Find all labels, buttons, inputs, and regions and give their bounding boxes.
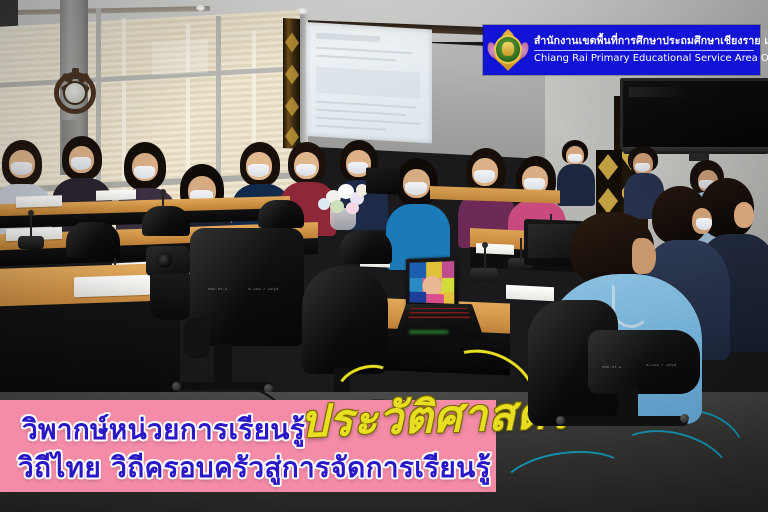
slide-line bbox=[316, 117, 420, 125]
flower-bloom bbox=[318, 198, 330, 210]
screen-tile bbox=[410, 292, 427, 304]
emblem-core bbox=[502, 42, 514, 56]
thai-royal-garuda-emblem-icon bbox=[487, 28, 529, 72]
office-chair bbox=[588, 330, 700, 394]
chair-sheen bbox=[302, 266, 388, 374]
thai-diamond-motif bbox=[598, 188, 618, 214]
decorative-wood-column bbox=[283, 18, 301, 149]
face-mask bbox=[696, 218, 712, 230]
head bbox=[734, 202, 754, 228]
face-mask bbox=[71, 157, 91, 170]
thai-diamond-motif bbox=[285, 32, 299, 53]
slide-line bbox=[316, 109, 406, 116]
microphone-head bbox=[28, 210, 34, 216]
flower-bloom bbox=[346, 202, 359, 214]
office-chair bbox=[142, 206, 190, 236]
chair-base bbox=[214, 344, 232, 386]
office-chair bbox=[66, 222, 120, 258]
face-mask bbox=[568, 154, 582, 163]
dslr-camera bbox=[146, 246, 190, 276]
flower-bloom bbox=[330, 200, 344, 213]
projection-screen bbox=[306, 22, 432, 143]
face-mask bbox=[348, 162, 368, 174]
chair-caster bbox=[172, 382, 181, 391]
ships-wheel-clock-icon bbox=[54, 72, 96, 114]
microphone-head bbox=[482, 242, 488, 248]
slide-line bbox=[316, 47, 412, 55]
microphone-stem bbox=[520, 238, 522, 260]
screen-tile bbox=[410, 262, 427, 278]
header-title-thai: สำนักงานเขตพื้นที่การศึกษาประถมศึกษาเชีย… bbox=[534, 35, 754, 48]
keyboard-backlight bbox=[408, 317, 470, 319]
chair-caster bbox=[680, 414, 689, 423]
laptop-screen bbox=[410, 261, 455, 304]
office-chair bbox=[258, 200, 304, 228]
laptop-lid bbox=[406, 257, 459, 309]
chair-asset-tag: ๔-๐๓๑ / ๐๙๖๔ bbox=[248, 286, 279, 292]
laptop-status-led bbox=[409, 330, 449, 334]
header-divider bbox=[534, 50, 754, 51]
chair-armrest bbox=[184, 318, 210, 358]
face-mask bbox=[11, 162, 32, 175]
screen-tile bbox=[426, 294, 444, 304]
header-title-english: Chiang Rai Primary Educational Service A… bbox=[534, 53, 754, 66]
chair-asset-tag: สพป.ชร.๑ bbox=[602, 364, 621, 370]
tv-screen-glint bbox=[629, 87, 689, 97]
caption-line-2: วิถีไทย วิถีครอบครัวสู่การจัดการเรียนรู้ bbox=[18, 446, 491, 490]
chair-caster bbox=[556, 416, 565, 425]
wall-mounted-television bbox=[620, 78, 768, 150]
slide-line bbox=[316, 101, 416, 109]
thai-diamond-motif bbox=[598, 154, 618, 180]
ceiling-downlight bbox=[196, 5, 205, 11]
organization-header-banner: สำนักงานเขตพื้นที่การศึกษาประถมศึกษาเชีย… bbox=[483, 25, 760, 75]
slide-line bbox=[316, 55, 396, 62]
camera-lens-icon bbox=[156, 252, 174, 270]
window-glare bbox=[152, 39, 208, 76]
chair-sheen bbox=[258, 200, 304, 228]
chair-sheen bbox=[588, 330, 700, 394]
screenshot-root: สพป.ชร.๑ ๔-๐๓๑ / ๐๙๖๔ bbox=[0, 0, 768, 512]
torso bbox=[557, 164, 595, 206]
thai-diamond-motif bbox=[285, 64, 299, 85]
document-paper bbox=[506, 285, 554, 302]
document-paper bbox=[96, 189, 136, 200]
screen-tile bbox=[410, 278, 423, 292]
slide-block bbox=[316, 67, 420, 99]
chair-sheen bbox=[340, 230, 392, 264]
chair-asset-tag: สพป.ชร.๑ bbox=[208, 286, 227, 292]
ceiling-corner-shadow bbox=[0, 0, 18, 28]
desktop-monitor bbox=[366, 167, 400, 194]
document-paper bbox=[74, 275, 150, 298]
face-mask bbox=[474, 170, 495, 183]
header-text-block: สำนักงานเขตพื้นที่การศึกษาประถมศึกษาเชีย… bbox=[534, 35, 754, 66]
slide-line bbox=[316, 125, 386, 131]
chair-sheen bbox=[66, 222, 120, 258]
laptop-keyboard bbox=[393, 304, 484, 340]
face-mask bbox=[134, 166, 155, 179]
document-paper bbox=[16, 195, 62, 208]
office-chair bbox=[302, 266, 388, 374]
chair-asset-tag: ๔-๐๓๑ / ๐๙๖๔ bbox=[646, 362, 677, 368]
screen-tile bbox=[444, 292, 454, 304]
clock-face bbox=[63, 81, 87, 105]
head bbox=[632, 238, 656, 274]
gaming-laptop bbox=[404, 258, 472, 350]
chair-base bbox=[560, 416, 688, 426]
screen-tile bbox=[442, 278, 454, 293]
chair-sheen bbox=[142, 206, 190, 236]
face-mask bbox=[248, 164, 269, 177]
office-chair bbox=[340, 230, 392, 264]
face-mask bbox=[635, 163, 650, 172]
face-mask bbox=[296, 164, 316, 176]
face-mask bbox=[405, 182, 427, 195]
camera-strap bbox=[150, 274, 194, 320]
keyboard-backlight bbox=[411, 308, 468, 309]
microphone-stem bbox=[484, 246, 486, 270]
slide-block bbox=[316, 33, 380, 43]
thai-diamond-motif bbox=[285, 96, 299, 117]
blind-slat bbox=[122, 18, 126, 218]
microphone-stem bbox=[30, 214, 32, 238]
microphone-head bbox=[160, 189, 166, 195]
keyboard-backlight bbox=[409, 312, 468, 313]
screen-tile bbox=[442, 261, 454, 278]
